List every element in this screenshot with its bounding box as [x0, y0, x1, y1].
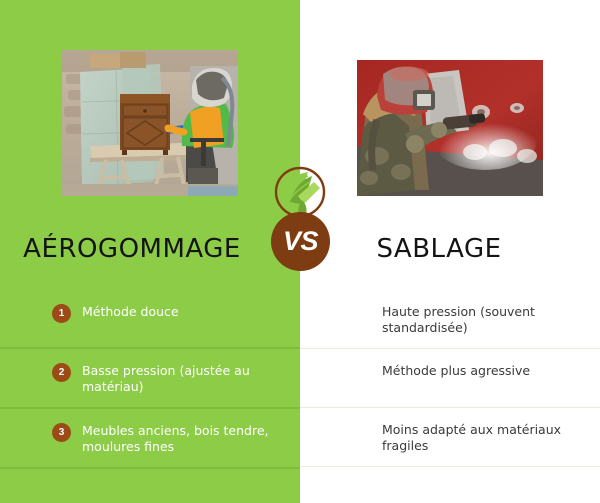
- list-item: 1 Haute pression (souvent standardisée): [300, 290, 600, 349]
- left-feature-list: 1 Méthode douce 2 Basse pression (ajusté…: [0, 290, 300, 469]
- list-item: 2 Basse pression (ajustée au matériau): [0, 349, 300, 409]
- left-title: AÉROGOMMAGE: [0, 230, 264, 268]
- right-photo-sablage: [357, 60, 543, 196]
- list-item-number: 3: [52, 423, 71, 442]
- comparison-infographic: VS AÉROGOMMAGE SABLAGE 1 Méthode douce 2…: [0, 0, 600, 503]
- list-item: 1 Méthode douce: [0, 290, 300, 349]
- right-feature-list: 1 Haute pression (souvent standardisée) …: [300, 290, 600, 467]
- left-photo-aerogommage: [62, 50, 238, 196]
- list-item-label: Meubles anciens, bois tendre, moulures f…: [82, 423, 284, 455]
- list-item-label: Moins adapté aux matériaux fragiles: [382, 422, 584, 454]
- list-item: 3 Moins adapté aux matériaux fragiles: [300, 408, 600, 467]
- list-item: 3 Meubles anciens, bois tendre, moulures…: [0, 409, 300, 469]
- list-item: 2 Méthode plus agressive: [300, 349, 600, 408]
- vs-label: VS: [283, 228, 318, 255]
- list-item-label: Basse pression (ajustée au matériau): [82, 363, 284, 395]
- vs-circle: VS: [271, 212, 330, 271]
- right-title: SABLAGE: [336, 230, 542, 268]
- green-nozzle-leaf-logo-icon: [274, 166, 326, 218]
- vs-badge: VS: [268, 166, 332, 272]
- list-item-label: Méthode douce: [82, 304, 179, 320]
- list-item-number: 2: [52, 363, 71, 382]
- list-item-label: Méthode plus agressive: [382, 363, 530, 379]
- list-item-number: 1: [52, 304, 71, 323]
- list-item-label: Haute pression (souvent standardisée): [382, 304, 584, 336]
